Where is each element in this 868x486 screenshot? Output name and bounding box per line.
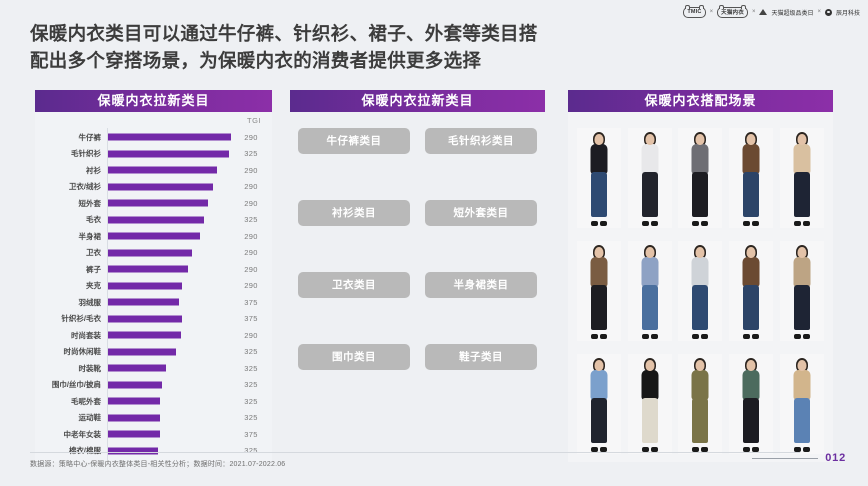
- logo-separator: ×: [752, 9, 756, 15]
- bar-value: 325: [230, 380, 272, 389]
- bar: [108, 233, 200, 240]
- bar-track: [107, 261, 230, 278]
- category-chip[interactable]: 卫衣类目: [298, 272, 410, 298]
- bar-chart-row: 毛衣325: [35, 212, 272, 229]
- bar-track: [107, 344, 230, 361]
- model-shoe-right: [651, 221, 658, 226]
- bar-track: [107, 162, 230, 179]
- bar-category-label: 时尚休闲鞋: [35, 346, 107, 357]
- bar-value: 290: [230, 199, 272, 208]
- chip-row: 衬衫类目短外套类目: [298, 200, 537, 226]
- bar-track: [107, 426, 230, 443]
- bar-category-label: 毛呢外套: [35, 396, 107, 407]
- category-chip[interactable]: 毛针织衫类目: [425, 128, 537, 154]
- chip-row: 围巾类目鞋子类目: [298, 344, 537, 370]
- model-top: [793, 370, 810, 400]
- model-top: [793, 257, 810, 287]
- bar-chart-row: 卫衣/绒衫290: [35, 179, 272, 196]
- logo-separator: ×: [710, 9, 714, 15]
- model-shoe-right: [600, 334, 607, 339]
- bar-chart-row: 毛呢外套325: [35, 393, 272, 410]
- model-head: [645, 247, 654, 258]
- outfit-model-photo: [729, 241, 773, 341]
- page-number: 012: [825, 452, 846, 464]
- outfit-image-row: [574, 120, 827, 228]
- bar-chart-row: 夹克290: [35, 278, 272, 295]
- bar-value: 375: [230, 314, 272, 323]
- bar-category-label: 卫衣/绒衫: [35, 181, 107, 192]
- bar-value: 290: [230, 331, 272, 340]
- chip-grid: 牛仔裤类目毛针织衫类目衬衫类目短外套类目卫衣类目半身裙类目围巾类目鞋子类目: [290, 112, 545, 462]
- bar-category-label: 毛针织衫: [35, 148, 107, 159]
- page-title-line-2: 配出多个穿搭场景，为保暖内衣的消费者提供更多选择: [30, 48, 630, 75]
- model-shoe-right: [803, 334, 810, 339]
- model-shoe-left: [743, 221, 750, 226]
- bar-chart-row: 中老年女装375: [35, 426, 272, 443]
- model-bottom: [642, 172, 658, 217]
- model-head: [797, 134, 806, 145]
- bar-track: [107, 410, 230, 427]
- bar-value: 325: [230, 347, 272, 356]
- chip-row: 牛仔裤类目毛针织衫类目: [298, 128, 537, 154]
- bar-category-label: 半身裙: [35, 231, 107, 242]
- bar-value: 290: [230, 182, 272, 191]
- bar-chart-row: 牛仔裤290: [35, 129, 272, 146]
- model-top: [692, 370, 709, 400]
- category-chip[interactable]: 围巾类目: [298, 344, 410, 370]
- model-bottom: [692, 398, 708, 443]
- bar-value: 325: [230, 413, 272, 422]
- model-shoe-right: [600, 221, 607, 226]
- page-indicator: 012: [752, 452, 846, 464]
- bar: [108, 200, 208, 207]
- panel-category-chips: 保暖内衣拉新类目 牛仔裤类目毛针织衫类目衬衫类目短外套类目卫衣类目半身裙类目围巾…: [290, 90, 545, 462]
- bar-value: 290: [230, 265, 272, 274]
- bar-chart: TGI 牛仔裤290毛针织衫325衬衫290卫衣/绒衫290短外套290毛衣32…: [35, 112, 272, 462]
- category-chip[interactable]: 短外套类目: [425, 200, 537, 226]
- outfit-model-photo: [628, 128, 672, 228]
- model-top: [743, 144, 760, 174]
- model-shoe-left: [591, 221, 598, 226]
- model-shoe-left: [794, 447, 801, 452]
- model-shoe-left: [692, 447, 699, 452]
- bar-value: 325: [230, 446, 272, 455]
- model-top: [743, 370, 760, 400]
- model-top: [591, 144, 608, 174]
- bar-category-label: 运动鞋: [35, 412, 107, 423]
- model-bottom: [591, 398, 607, 443]
- model-head: [595, 134, 604, 145]
- bar: [108, 315, 182, 322]
- outfit-model-photo: [729, 354, 773, 454]
- bar-category-label: 卫衣: [35, 247, 107, 258]
- model-head: [645, 360, 654, 371]
- outfit-image-row: [574, 346, 827, 454]
- bar-chart-row: 围巾/丝巾/披肩325: [35, 377, 272, 394]
- model-shoe-left: [794, 334, 801, 339]
- model-shoe-left: [591, 334, 598, 339]
- tmall-super-category-day-label: 天猫超级品类日: [771, 8, 813, 17]
- panel-left-title: 保暖内衣拉新类目: [35, 90, 272, 112]
- bar-value: 290: [230, 248, 272, 257]
- model-bottom: [692, 172, 708, 217]
- outfit-model-photo: [628, 241, 672, 341]
- bar: [108, 134, 231, 141]
- bar: [108, 266, 188, 273]
- bar-chart-row: 羽绒服375: [35, 294, 272, 311]
- model-shoe-left: [743, 334, 750, 339]
- bar-track: [107, 278, 230, 295]
- chenyue-mark-icon: [825, 9, 832, 16]
- bar-category-label: 时尚套装: [35, 330, 107, 341]
- model-top: [793, 144, 810, 174]
- bar-value: 290: [230, 232, 272, 241]
- bar-chart-row: 时尚休闲鞋325: [35, 344, 272, 361]
- page-title: 保暖内衣类目可以通过牛仔裤、针织衫、裙子、外套等类目搭 配出多个穿搭场景，为保暖…: [30, 21, 630, 75]
- bar-value: 325: [230, 215, 272, 224]
- bar-chart-row: 运动鞋325: [35, 410, 272, 427]
- panel-middle-title: 保暖内衣拉新类目: [290, 90, 545, 112]
- bar-value: 375: [230, 430, 272, 439]
- panel-new-customer-categories: 保暖内衣拉新类目 TGI 牛仔裤290毛针织衫325衬衫290卫衣/绒衫290短…: [35, 90, 272, 462]
- bar-track: [107, 443, 230, 460]
- model-shoe-left: [591, 447, 598, 452]
- outfit-model-photo: [628, 354, 672, 454]
- bar-track: [107, 245, 230, 262]
- model-head: [696, 247, 705, 258]
- bar: [108, 167, 217, 174]
- model-bottom: [743, 172, 759, 217]
- data-source-note: 数据源：策略中心-保暖内衣整体类目-相关性分析；数据时间：2021.07-202…: [30, 459, 285, 469]
- model-head: [645, 134, 654, 145]
- model-head: [747, 134, 756, 145]
- page-rule: [752, 458, 818, 459]
- outfit-model-photo: [678, 241, 722, 341]
- bar-chart-row: 半身裙290: [35, 228, 272, 245]
- bar-track: [107, 311, 230, 328]
- bar-track: [107, 294, 230, 311]
- bar-chart-row: 卫衣290: [35, 245, 272, 262]
- model-shoe-right: [701, 334, 708, 339]
- bar-track: [107, 195, 230, 212]
- footer-divider: [30, 452, 800, 453]
- page-title-line-1: 保暖内衣类目可以通过牛仔裤、针织衫、裙子、外套等类目搭: [30, 21, 630, 48]
- bar: [108, 414, 160, 421]
- model-shoe-left: [642, 221, 649, 226]
- model-shoe-left: [794, 221, 801, 226]
- bar-track: [107, 377, 230, 394]
- category-chip[interactable]: 鞋子类目: [425, 344, 537, 370]
- model-top: [591, 370, 608, 400]
- bar-track: [107, 129, 230, 146]
- bar-value: 375: [230, 298, 272, 307]
- model-top: [641, 144, 658, 174]
- category-chip[interactable]: 衬衫类目: [298, 200, 410, 226]
- model-shoe-right: [651, 447, 658, 452]
- panel-outfit-scenes: 保暖内衣搭配场景: [568, 90, 833, 462]
- model-shoe-right: [752, 221, 759, 226]
- bar-category-label: 毛衣: [35, 214, 107, 225]
- bar-track: [107, 327, 230, 344]
- bar-category-label: 衬衫: [35, 165, 107, 176]
- model-bottom: [794, 172, 810, 217]
- bar-category-label: 时装靴: [35, 363, 107, 374]
- outfit-model-photo: [577, 354, 621, 454]
- bar-category-label: 围巾/丝巾/披肩: [35, 379, 107, 390]
- bar-value: 325: [230, 149, 272, 158]
- model-head: [747, 247, 756, 258]
- bar-chart-row: 棉衣/棉服325: [35, 443, 272, 460]
- model-head: [696, 134, 705, 145]
- bar-category-label: 羽绒服: [35, 297, 107, 308]
- outfit-model-photo: [678, 354, 722, 454]
- bar: [108, 431, 160, 438]
- outfit-model-photo: [577, 241, 621, 341]
- tmall-inner-logo: 天猫内衣: [717, 7, 748, 18]
- model-shoe-left: [692, 334, 699, 339]
- bar-chart-row: 裤子290: [35, 261, 272, 278]
- category-chip[interactable]: 牛仔裤类目: [298, 128, 410, 154]
- outfit-model-photo: [729, 128, 773, 228]
- outfit-model-photo: [577, 128, 621, 228]
- category-chip[interactable]: 半身裙类目: [425, 272, 537, 298]
- bar-value: 290: [230, 166, 272, 175]
- bar-track: [107, 146, 230, 163]
- model-shoe-right: [701, 447, 708, 452]
- model-head: [595, 247, 604, 258]
- bar-chart-row: 针织衫/毛衣375: [35, 311, 272, 328]
- bar: [108, 282, 182, 289]
- model-head: [797, 360, 806, 371]
- logo-separator: ×: [817, 9, 821, 15]
- bar-category-label: 夹克: [35, 280, 107, 291]
- bar-chart-row: 衬衫290: [35, 162, 272, 179]
- bar-category-label: 中老年女装: [35, 429, 107, 440]
- model-head: [797, 247, 806, 258]
- model-bottom: [642, 398, 658, 443]
- bar-chart-row: 短外套290: [35, 195, 272, 212]
- model-bottom: [743, 285, 759, 330]
- model-bottom: [794, 285, 810, 330]
- bar-category-label: 牛仔裤: [35, 132, 107, 143]
- bar: [108, 249, 192, 256]
- bar-category-label: 短外套: [35, 198, 107, 209]
- bar: [108, 216, 204, 223]
- model-bottom: [692, 285, 708, 330]
- model-top: [641, 257, 658, 287]
- model-shoe-right: [752, 447, 759, 452]
- panel-right-title: 保暖内衣搭配场景: [568, 90, 833, 112]
- outfit-model-photo: [780, 128, 824, 228]
- bar-category-label: 棉衣/棉服: [35, 445, 107, 456]
- bar-chart-row: 毛针织衫325: [35, 146, 272, 163]
- model-head: [696, 360, 705, 371]
- model-top: [692, 257, 709, 287]
- model-shoe-left: [743, 447, 750, 452]
- outfit-image-row: [574, 233, 827, 341]
- bar-chart-rows: 牛仔裤290毛针织衫325衬衫290卫衣/绒衫290短外套290毛衣325半身裙…: [35, 129, 272, 459]
- model-head: [747, 360, 756, 371]
- tmic-logo: TMIC: [683, 7, 705, 18]
- outfit-model-photo: [780, 354, 824, 454]
- model-head: [595, 360, 604, 371]
- brand-logo-strip: TMIC × 天猫内衣 × 天猫超级品类日 × 辰月科技: [683, 4, 860, 20]
- model-top: [591, 257, 608, 287]
- model-shoe-left: [642, 334, 649, 339]
- bar-chart-row: 时尚套装290: [35, 327, 272, 344]
- bar: [108, 381, 162, 388]
- bar: [108, 150, 229, 157]
- model-bottom: [743, 398, 759, 443]
- model-top: [641, 370, 658, 400]
- model-shoe-right: [803, 447, 810, 452]
- model-bottom: [794, 398, 810, 443]
- triangle-icon: [759, 9, 767, 15]
- bar: [108, 447, 158, 454]
- model-shoe-left: [642, 447, 649, 452]
- bar-value: 325: [230, 397, 272, 406]
- model-shoe-left: [692, 221, 699, 226]
- model-shoe-right: [651, 334, 658, 339]
- bar-track: [107, 228, 230, 245]
- model-bottom: [591, 285, 607, 330]
- bar-category-label: 裤子: [35, 264, 107, 275]
- bar: [108, 183, 213, 190]
- bar: [108, 332, 181, 339]
- model-shoe-right: [600, 447, 607, 452]
- bar-value: 290: [230, 133, 272, 142]
- bar: [108, 299, 179, 306]
- model-shoe-right: [752, 334, 759, 339]
- bar-track: [107, 360, 230, 377]
- bar-value: 325: [230, 364, 272, 373]
- bar-track: [107, 393, 230, 410]
- bar: [108, 365, 166, 372]
- model-top: [743, 257, 760, 287]
- bar: [108, 398, 160, 405]
- bar-chart-row: 时装靴325: [35, 360, 272, 377]
- chenyue-tech-label: 辰月科技: [836, 8, 860, 17]
- bar-track: [107, 212, 230, 229]
- bar-category-label: 针织衫/毛衣: [35, 313, 107, 324]
- outfit-image-grid: [568, 112, 833, 462]
- outfit-model-photo: [780, 241, 824, 341]
- model-shoe-right: [803, 221, 810, 226]
- bar-track: [107, 179, 230, 196]
- model-bottom: [591, 172, 607, 217]
- outfit-model-photo: [678, 128, 722, 228]
- tgi-column-header: TGI: [247, 116, 261, 125]
- bar: [108, 348, 176, 355]
- bar-value: 290: [230, 281, 272, 290]
- model-top: [692, 144, 709, 174]
- model-shoe-right: [701, 221, 708, 226]
- chip-row: 卫衣类目半身裙类目: [298, 272, 537, 298]
- model-bottom: [642, 285, 658, 330]
